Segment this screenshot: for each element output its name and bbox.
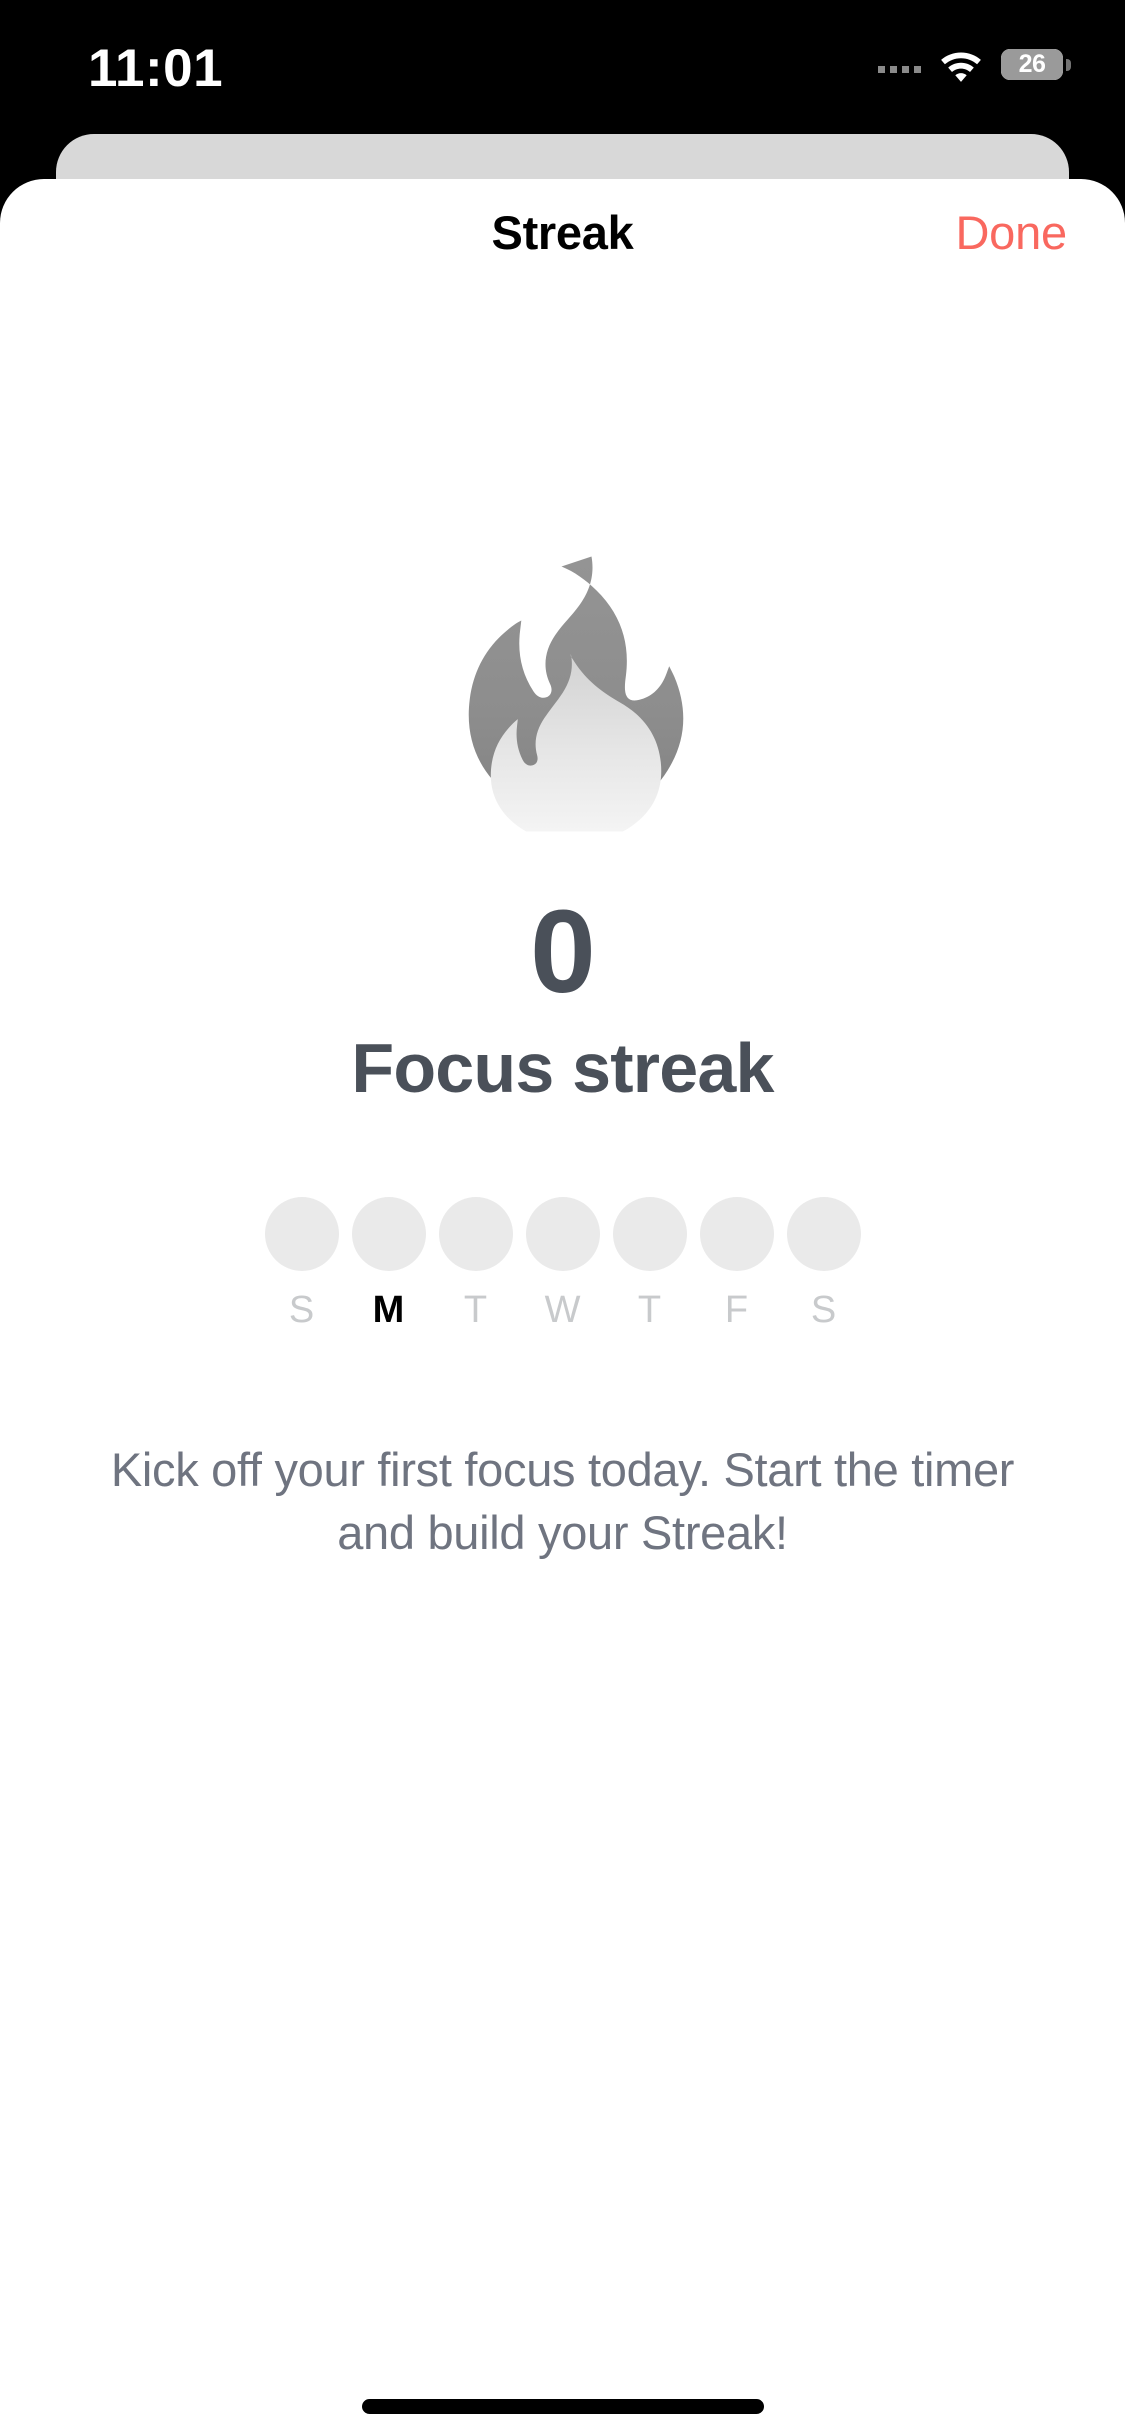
signal-dots-icon: [878, 53, 921, 75]
day-letter: W: [545, 1291, 581, 1329]
status-bar: 11:01 26: [0, 0, 1125, 132]
day-dot: [526, 1197, 600, 1271]
battery-percent-label: 26: [1019, 50, 1046, 79]
day-dot: [613, 1197, 687, 1271]
day-column-sunday[interactable]: S: [265, 1197, 339, 1329]
streak-description: Kick off your first focus today. Start t…: [98, 1439, 1028, 1564]
day-letter: F: [725, 1291, 748, 1329]
day-letter: T: [464, 1291, 487, 1329]
day-letter: M: [373, 1291, 405, 1329]
home-indicator[interactable]: [362, 2399, 764, 2414]
day-column-monday[interactable]: M: [352, 1197, 426, 1329]
day-dot: [439, 1197, 513, 1271]
day-column-thursday[interactable]: T: [613, 1197, 687, 1329]
day-dot: [265, 1197, 339, 1271]
streak-sheet: Streak Done: [0, 179, 1125, 2436]
day-dot: [787, 1197, 861, 1271]
battery-indicator: 26: [1001, 49, 1063, 80]
streak-content: 0 Focus streak S M T W: [0, 297, 1125, 1564]
status-bar-time: 11:01: [88, 38, 223, 99]
day-dot: [352, 1197, 426, 1271]
day-column-wednesday[interactable]: W: [526, 1197, 600, 1329]
day-letter: S: [289, 1291, 314, 1329]
streak-count: 0: [530, 893, 595, 1011]
day-dot: [700, 1197, 774, 1271]
status-bar-indicators: 26: [878, 46, 1063, 82]
day-letter: T: [638, 1291, 661, 1329]
day-column-friday[interactable]: F: [700, 1197, 774, 1329]
sheet-nav-bar: Streak Done: [0, 179, 1125, 297]
week-strip: S M T W T: [265, 1197, 861, 1329]
done-button[interactable]: Done: [955, 205, 1067, 260]
wifi-icon: [937, 46, 985, 82]
day-letter: S: [811, 1291, 836, 1329]
day-column-saturday[interactable]: S: [787, 1197, 861, 1329]
day-column-tuesday[interactable]: T: [439, 1197, 513, 1329]
streak-label: Focus streak: [351, 1033, 773, 1103]
flame-icon: [413, 535, 713, 835]
phone-screen: 11:01 26 Streak Done: [0, 0, 1125, 2436]
